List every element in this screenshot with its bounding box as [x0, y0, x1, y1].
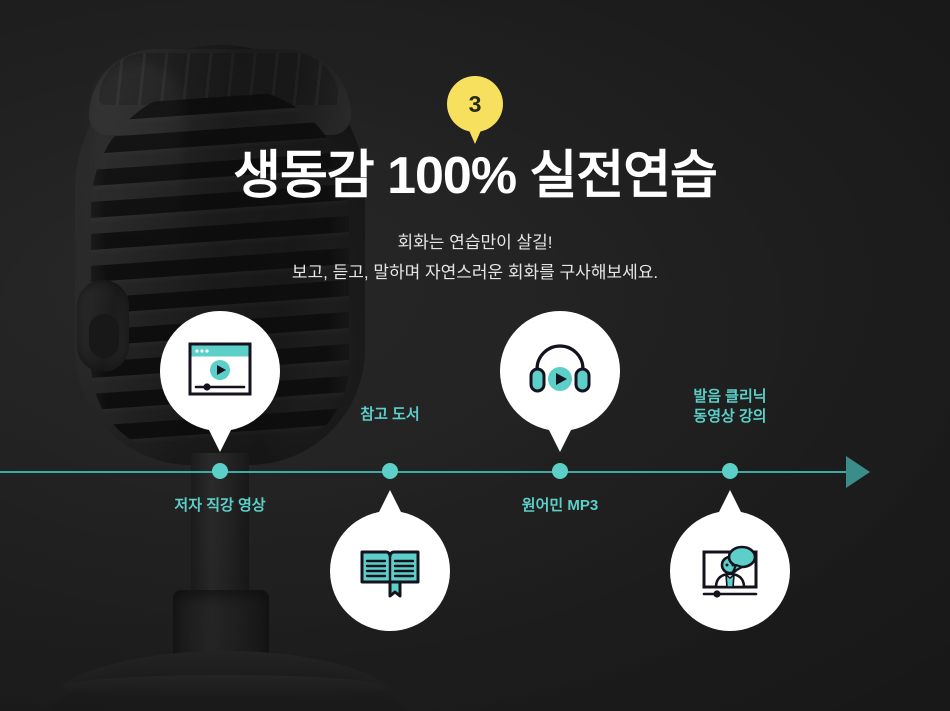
icon-bubble[interactable] — [670, 511, 790, 631]
timeline-axis — [0, 471, 846, 473]
timeline-dot — [552, 463, 568, 479]
timeline-node-label: 저자 직강 영상 — [130, 496, 310, 516]
timeline-node-label: 발음 클리닉 동영상 강의 — [640, 387, 820, 426]
page-title: 생동감 100% 실전연습 — [0, 148, 950, 205]
subtitle-line-1: 회화는 연습만이 살길! — [0, 228, 950, 258]
step-number-badge: 3 — [447, 76, 503, 132]
headphones-play-icon — [527, 341, 593, 401]
icon-bubble[interactable] — [330, 511, 450, 631]
open-book-icon — [357, 541, 423, 601]
subtitle-line-2: 보고, 듣고, 말하며 자연스러운 회화를 구사해보세요. — [0, 258, 950, 288]
step-number-label: 3 — [469, 93, 482, 116]
promo-banner: 3 생동감 100% 실전연습 회화는 연습만이 살길! 보고, 듣고, 말하며… — [0, 0, 950, 711]
video-lecture-person-icon — [697, 541, 763, 601]
icon-bubble[interactable] — [500, 311, 620, 431]
timeline-dot — [382, 463, 398, 479]
icon-bubble[interactable] — [160, 311, 280, 431]
timeline-arrow-icon — [846, 456, 870, 488]
banner-content: 3 생동감 100% 실전연습 회화는 연습만이 살길! 보고, 듣고, 말하며… — [0, 0, 950, 711]
timeline-dot — [722, 463, 738, 479]
timeline-node-label: 원어민 MP3 — [470, 496, 650, 516]
timeline-dot — [212, 463, 228, 479]
subtitle-block: 회화는 연습만이 살길! 보고, 듣고, 말하며 자연스러운 회화를 구사해보세… — [0, 228, 950, 288]
timeline-node-label: 참고 도서 — [300, 405, 480, 425]
video-player-icon — [187, 341, 253, 401]
